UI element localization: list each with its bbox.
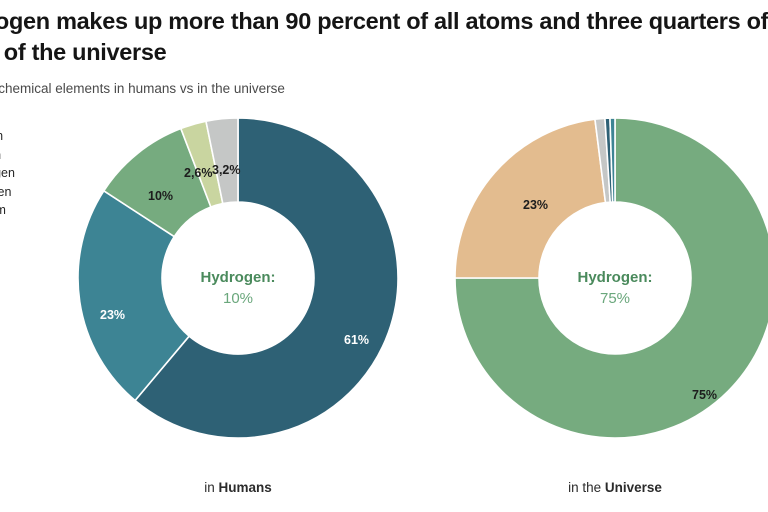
charts-container: Hydrogen: 10% 61% 23% 10% 2,6% 3,2% in H…	[0, 0, 768, 512]
caption-humans-strong: Humans	[219, 480, 272, 495]
donut-svg-universe[interactable]	[455, 118, 768, 438]
donut-slice-helium[interactable]	[455, 119, 605, 278]
caption-humans-prefix: in	[204, 480, 218, 495]
caption-universe-prefix: in the	[568, 480, 605, 495]
donut-svg-humans[interactable]	[78, 118, 398, 438]
donut-chart-humans	[78, 118, 398, 438]
caption-universe-strong: Universe	[605, 480, 662, 495]
caption-universe: in the Universe	[455, 480, 768, 495]
donut-chart-universe	[455, 118, 768, 438]
caption-humans: in Humans	[78, 480, 398, 495]
